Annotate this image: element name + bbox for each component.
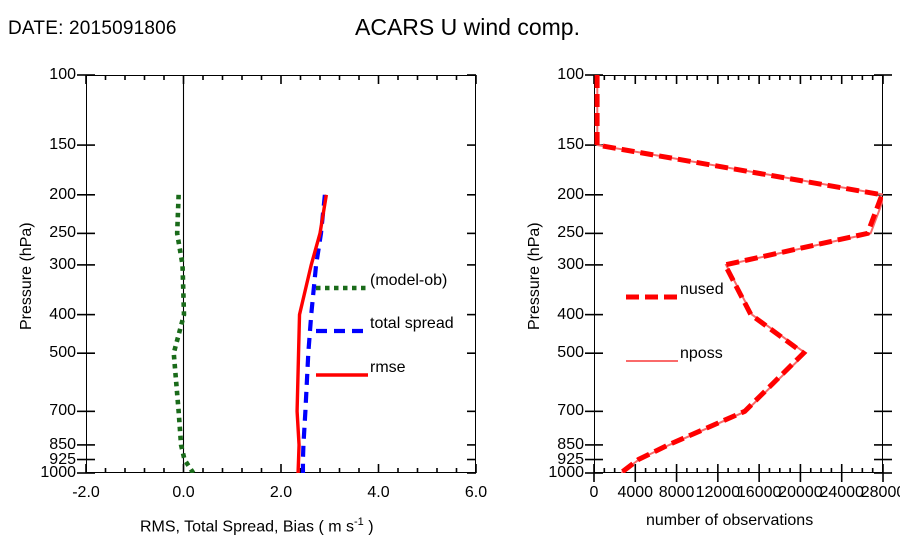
left-y-tick-100: 100 <box>8 66 76 84</box>
right-y-tick-500: 500 <box>516 344 584 362</box>
legend-label-rmse: rmse <box>370 359 406 377</box>
left-x-tick-4-0: 4.0 <box>367 484 389 502</box>
legend-label-model-ob: (model-ob) <box>370 272 447 290</box>
x-axis-title-main: RMS, Total Spread, Bias ( m s <box>140 518 354 535</box>
series-nposs <box>597 75 885 473</box>
left-x-tick-0-0: 0.0 <box>172 484 194 502</box>
left-y-tick-200: 200 <box>8 186 76 204</box>
right-plot-panel: 1001502002503004005007008509251000 04000… <box>500 0 900 560</box>
legend-item-rmse: rmse <box>316 359 406 377</box>
left-x-axis-title: RMS, Total Spread, Bias ( m s-1 ) <box>140 516 374 536</box>
left-y-tick-500: 500 <box>8 344 76 362</box>
left-x-tick-2-0: 2.0 <box>270 484 292 502</box>
legend-label-nposs: nposs <box>680 345 723 363</box>
legend-item-nused: nused <box>626 281 724 299</box>
right-x-tick-28000: 28000 <box>861 484 900 502</box>
right-y-axis-title: Pressure (hPa) <box>526 222 544 330</box>
right-y-ticks <box>585 75 892 473</box>
left-y-tick-1000: 1000 <box>8 464 76 482</box>
left-plot-panel: 1001502002503004005007008509251000 -2.00… <box>0 0 500 560</box>
legend-item-model-ob: (model-ob) <box>316 272 447 290</box>
left-x-tick--2-0: -2.0 <box>72 484 100 502</box>
right-x-tick-20000: 20000 <box>778 484 823 502</box>
legend-label-nused: nused <box>680 281 724 299</box>
right-x-tick-4000: 4000 <box>617 484 653 502</box>
right-y-tick-200: 200 <box>516 186 584 204</box>
right-x-ticks <box>594 75 883 482</box>
left-y-tick-150: 150 <box>8 136 76 154</box>
right-x-tick-12000: 12000 <box>696 484 741 502</box>
right-x-tick-0: 0 <box>590 484 599 502</box>
right-y-tick-100: 100 <box>516 66 584 84</box>
left-y-axis-title: Pressure (hPa) <box>18 222 36 330</box>
x-axis-title-exponent: -1 <box>354 516 364 528</box>
legend-item-nposs: nposs <box>626 345 723 363</box>
x-axis-title-tail: ) <box>364 518 374 535</box>
right-y-tick-150: 150 <box>516 136 584 154</box>
right-x-tick-16000: 16000 <box>737 484 782 502</box>
left-x-tick-6-0: 6.0 <box>465 484 487 502</box>
right-x-axis-title: number of observations <box>646 512 813 530</box>
right-y-tick-700: 700 <box>516 402 584 420</box>
right-x-tick-8000: 8000 <box>659 484 695 502</box>
legend-label-total-spread: total spread <box>370 315 454 333</box>
right-x-tick-24000: 24000 <box>819 484 864 502</box>
left-y-tick-700: 700 <box>8 402 76 420</box>
right-y-tick-1000: 1000 <box>516 464 584 482</box>
legend-item-total-spread: total spread <box>316 315 454 333</box>
plot-canvas: DATE: 2015091806 ACARS U wind comp. <box>0 0 900 560</box>
